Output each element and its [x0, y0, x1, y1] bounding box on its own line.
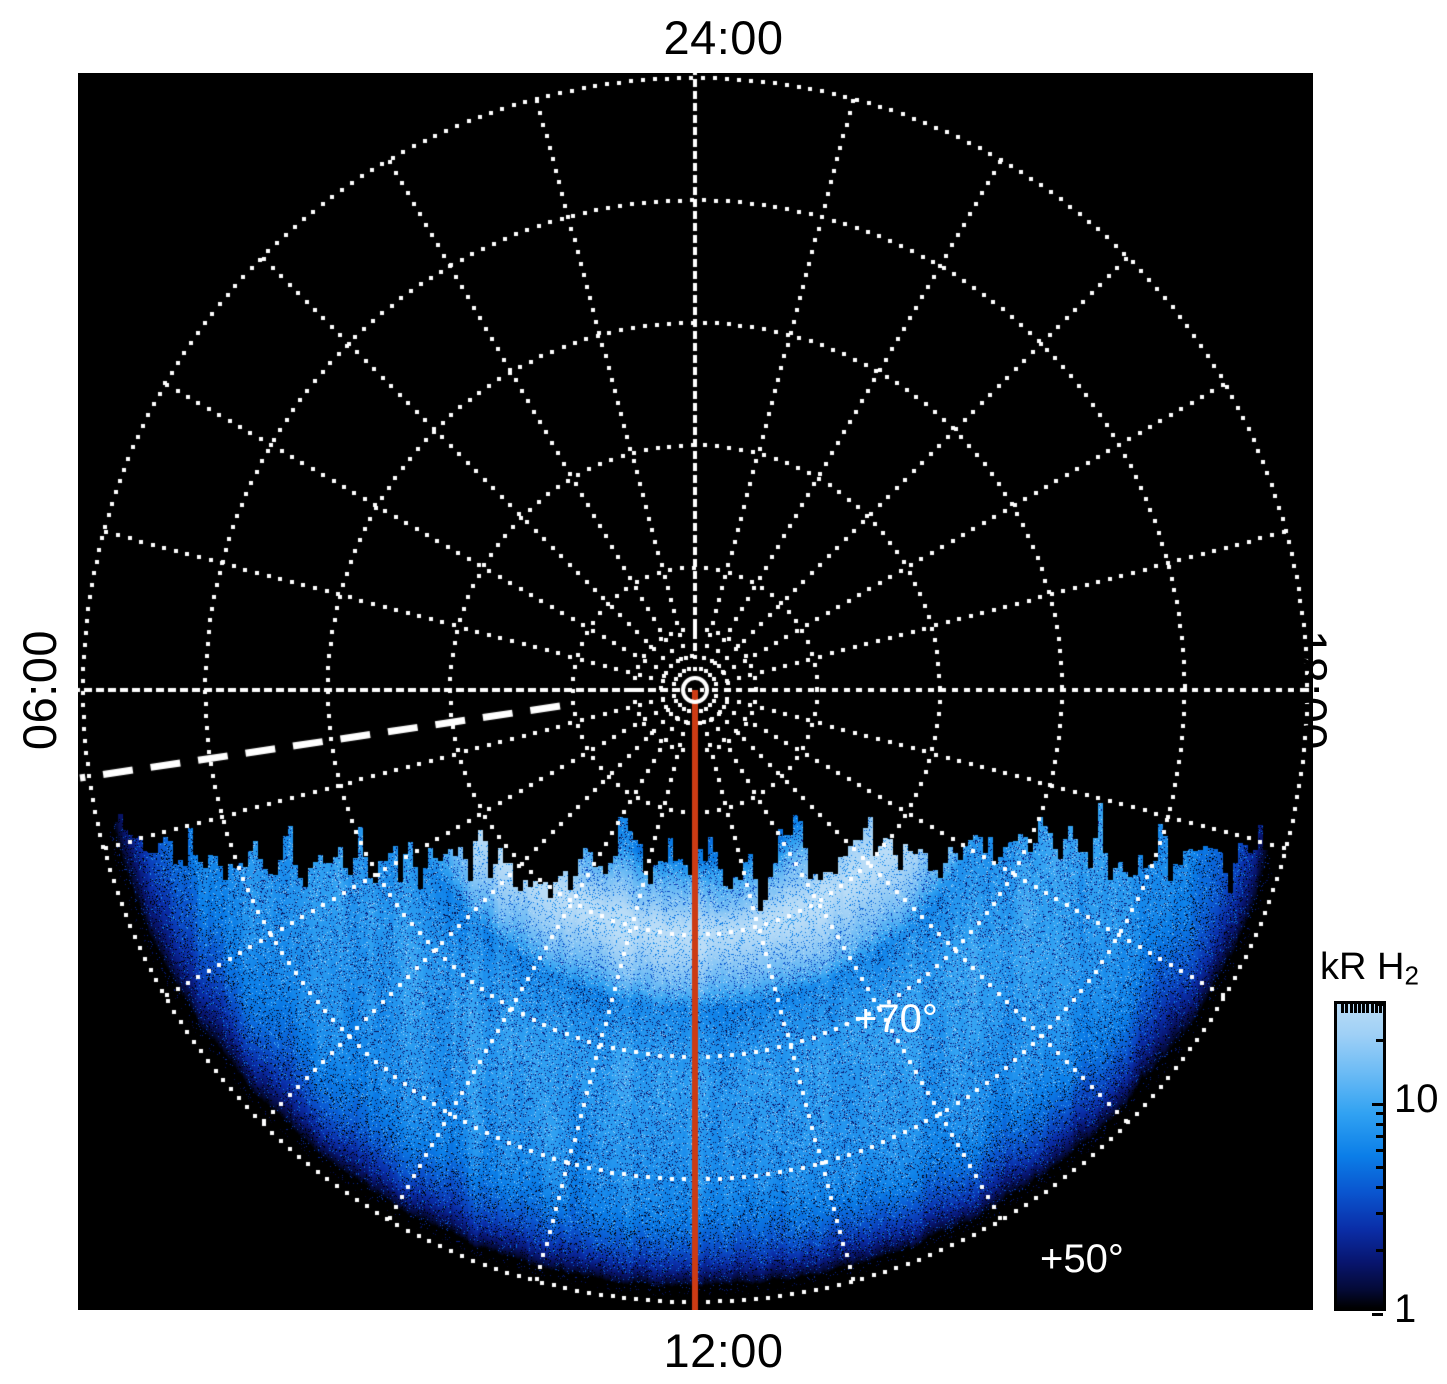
colorbar-top-hash: [1383, 1004, 1386, 1013]
colorbar-minor-tick: [1376, 1249, 1383, 1252]
colorbar-tick-label-1: 1: [1394, 1289, 1416, 1329]
colorbar-major-tick: [1372, 1313, 1383, 1316]
colorbar-title-text: kR H: [1320, 946, 1404, 988]
local-time-label-right: 18:00: [1287, 590, 1334, 790]
local-time-label-left: 06:00: [16, 590, 63, 790]
colorbar-minor-tick: [1376, 1135, 1383, 1138]
colorbar-gradient: [1337, 1004, 1383, 1308]
colorbar-tick-label-10: 10: [1394, 1079, 1439, 1119]
colorbar-major-tick: [1372, 1103, 1383, 1106]
colorbar-title: kR H2: [1320, 948, 1419, 989]
colorbar-minor-tick: [1376, 1149, 1383, 1152]
colorbar-minor-tick: [1376, 1186, 1383, 1189]
colorbar-minor-tick: [1376, 1212, 1383, 1215]
colorbar-minor-tick: [1376, 1039, 1383, 1042]
plot-panel: +70° +50°: [78, 73, 1313, 1310]
colorbar-title-subscript: 2: [1404, 961, 1418, 991]
colorbar-frame: [1334, 1001, 1386, 1311]
colorbar-top-hash: [1358, 1004, 1361, 1013]
colorbar-minor-tick: [1376, 1166, 1383, 1169]
colorbar-top-hash: [1354, 1004, 1357, 1013]
colorbar-top-hash: [1379, 1004, 1382, 1013]
colorbar-top-hash: [1366, 1004, 1369, 1013]
colorbar-top-hash: [1350, 1004, 1353, 1013]
colorbar-top-hash: [1371, 1004, 1374, 1013]
local-time-label-bottom: 12:00: [0, 1327, 1447, 1374]
aurora-polar-map: [78, 73, 1313, 1310]
colorbar-minor-tick: [1376, 1112, 1383, 1115]
colorbar-top-hash: [1375, 1004, 1378, 1013]
colorbar-minor-tick: [1376, 1123, 1383, 1126]
colorbar-top-hash: [1341, 1004, 1344, 1013]
polar-aurora-figure: +70° +50° 24:00 12:00 06:00 18:00 kR H2 …: [0, 0, 1447, 1384]
colorbar-top-hash: [1362, 1004, 1365, 1013]
colorbar-top-hash: [1345, 1004, 1348, 1013]
local-time-label-top: 24:00: [0, 14, 1447, 61]
